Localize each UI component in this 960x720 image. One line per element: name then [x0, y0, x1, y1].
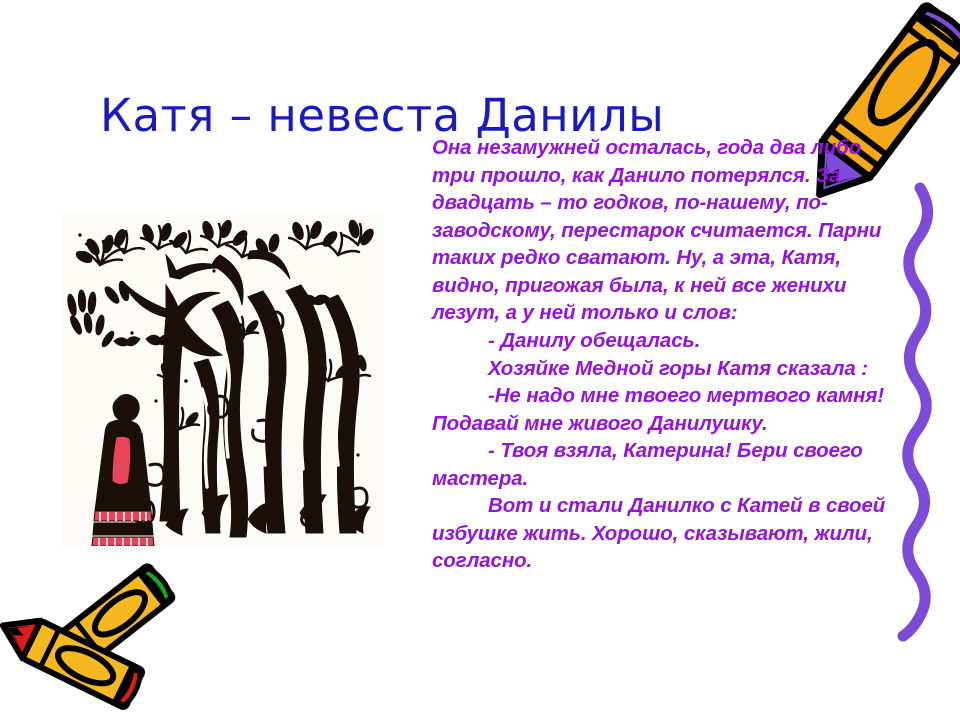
body-paragraph: -Не надо мне твоего мертвого камня! Пода…: [432, 382, 904, 437]
body-paragraph: Она незамужней осталась, года два либо т…: [432, 134, 904, 327]
body-paragraph: - Твоя взяла, Катерина! Бери своего маст…: [432, 437, 904, 492]
slide-body-text: Она незамужней осталась, года два либо т…: [432, 134, 904, 575]
body-paragraph: - Данилу обещалась.: [432, 327, 904, 355]
body-paragraph: Хозяйке Медной горы Катя сказала :: [432, 355, 904, 383]
slide-title: Катя – невеста Данилы: [100, 92, 720, 139]
folk-art-illustration: [62, 213, 384, 546]
crayon-pair-icon: [12, 562, 192, 714]
body-paragraph: Вот и стали Данилко с Катей в своей избу…: [432, 492, 904, 575]
presentation-slide: Катя – невеста Данилы: [0, 0, 960, 720]
